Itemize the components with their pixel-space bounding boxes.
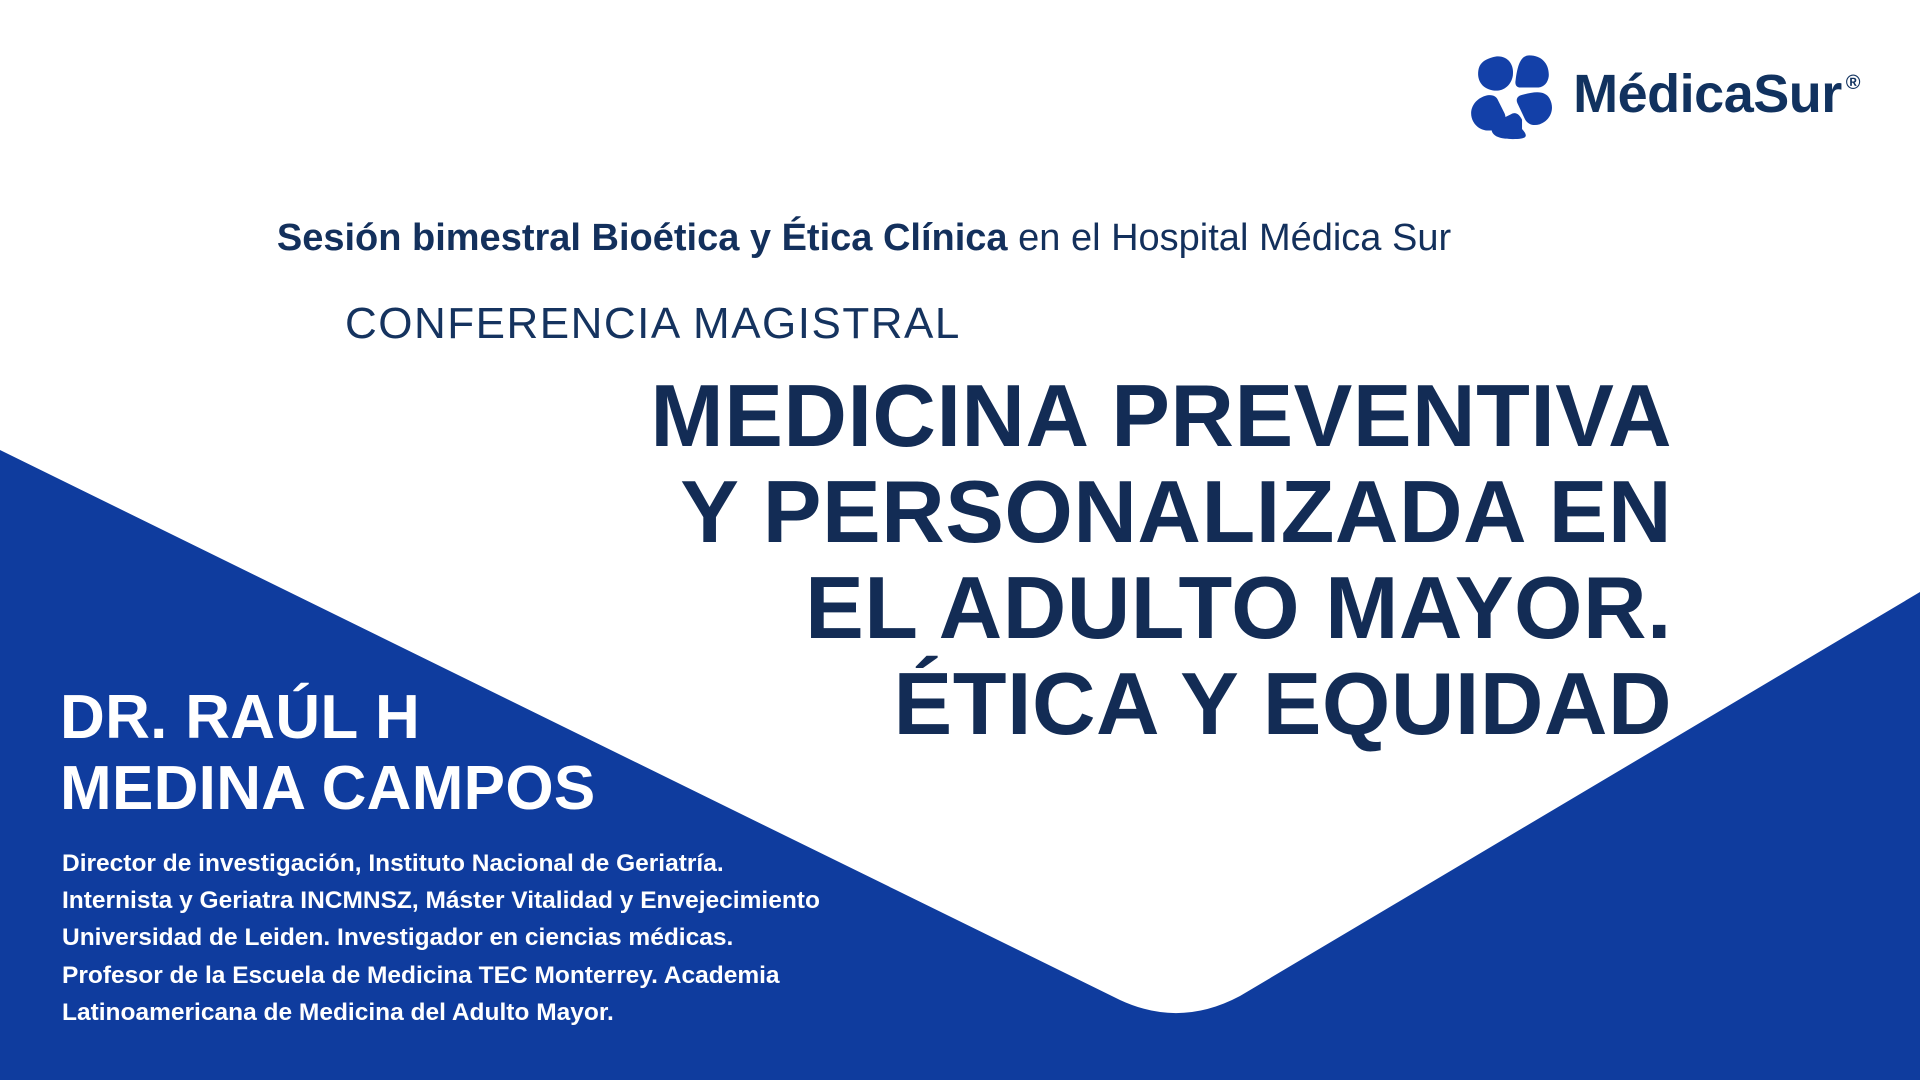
speaker-bio-line-4: Profesor de la Escuela de Medicina TEC M… bbox=[62, 957, 820, 994]
session-line: Sesión bimestral Bioética y Ética Clínic… bbox=[0, 218, 1728, 260]
registered-trademark-symbol: ® bbox=[1846, 73, 1860, 93]
brand-logo: MédicaSur ® bbox=[1465, 48, 1860, 140]
speaker-bio: Director de investigación, Instituto Nac… bbox=[62, 845, 820, 1031]
speaker-bio-line-1: Director de investigación, Instituto Nac… bbox=[62, 845, 820, 882]
session-line-strong: Sesión bimestral Bioética y Ética Clínic… bbox=[277, 217, 1008, 259]
speaker-name-line-2: MEDINA CAMPOS bbox=[60, 753, 596, 824]
speaker-bio-line-2: Internista y Geriatra INCMNSZ, Máster Vi… bbox=[62, 882, 820, 919]
title-line-1: MEDICINA PREVENTIVA bbox=[0, 368, 1672, 464]
title-line-2: Y PERSONALIZADA EN bbox=[0, 464, 1672, 560]
speaker-name-line-1: DR. RAÚL H bbox=[60, 682, 596, 753]
poster-canvas: MédicaSur ® Sesión bimestral Bioética y … bbox=[0, 0, 1920, 1080]
logo-wordmark: MédicaSur ® bbox=[1573, 67, 1860, 121]
title-line-3: EL ADULTO MAYOR. bbox=[0, 560, 1672, 656]
speaker-bio-line-5: Latinoamericana de Medicina del Adulto M… bbox=[62, 994, 820, 1031]
speaker-bio-line-3: Universidad de Leiden. Investigador en c… bbox=[62, 919, 820, 956]
session-line-rest: en el Hospital Médica Sur bbox=[1008, 217, 1452, 259]
conference-kicker: CONFERENCIA MAGISTRAL bbox=[345, 300, 961, 348]
logo-wordmark-text: MédicaSur bbox=[1573, 67, 1842, 121]
speaker-name: DR. RAÚL H MEDINA CAMPOS bbox=[60, 682, 596, 825]
medica-sur-flower-icon bbox=[1465, 48, 1557, 140]
